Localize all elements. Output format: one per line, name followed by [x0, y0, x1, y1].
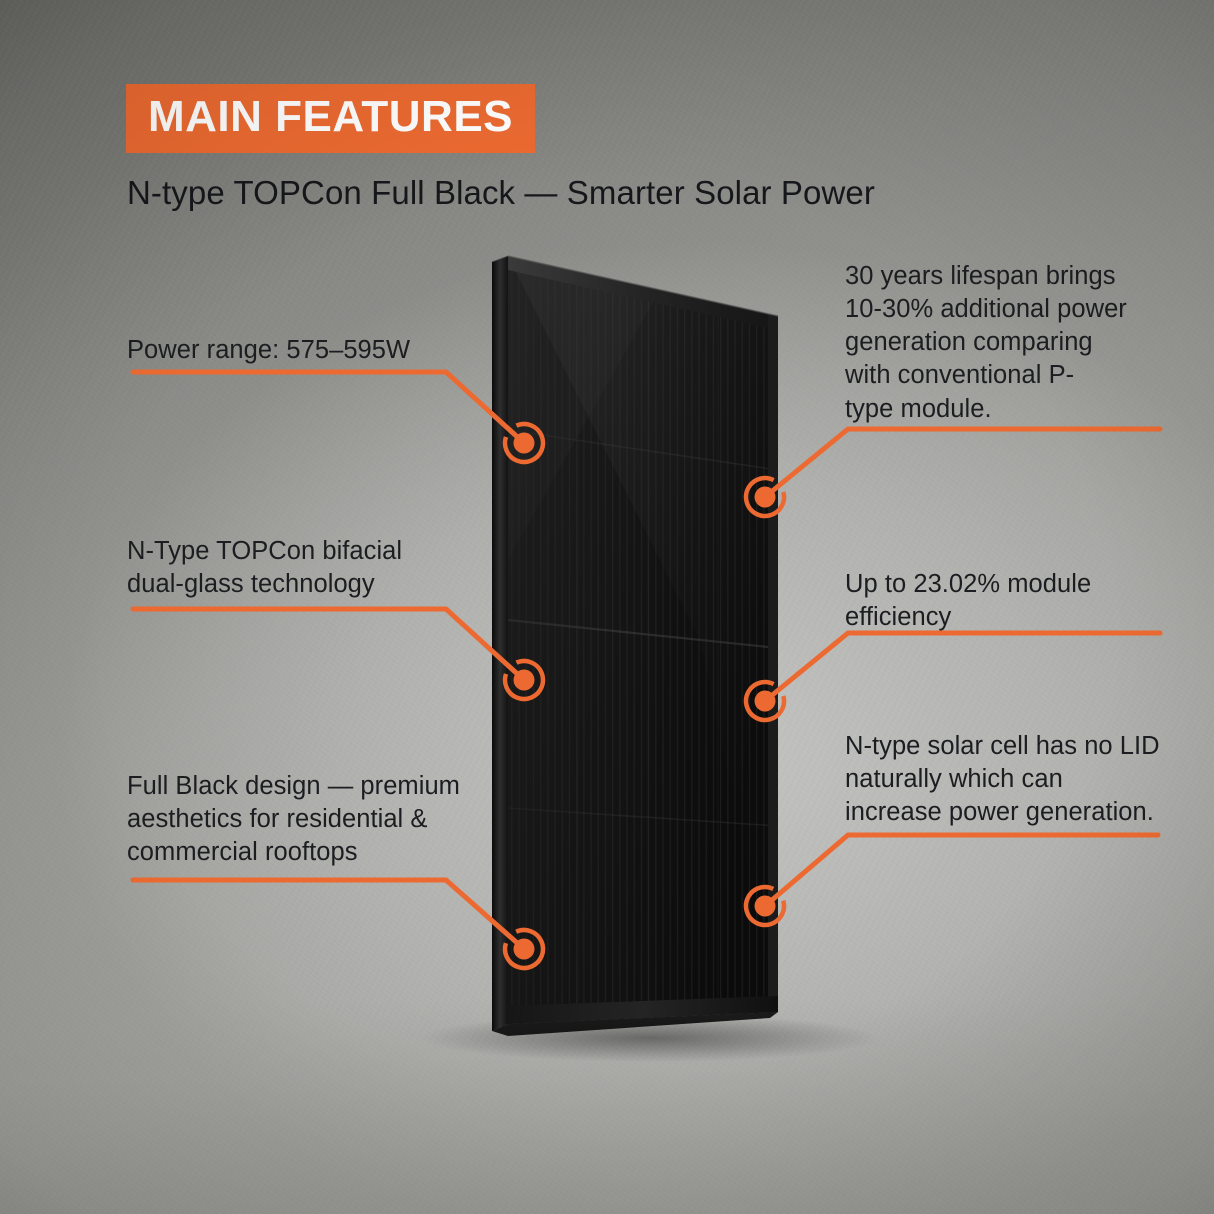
callout-text-power-range: Power range: 575–595W — [127, 334, 527, 367]
callout-line: with conventional P- — [845, 359, 1185, 392]
callout-line: 30 years lifespan brings — [845, 260, 1185, 293]
callout-line: Power range: 575–595W — [127, 334, 527, 367]
main-features-label: MAIN FEATURES — [148, 95, 513, 139]
callout-text-lifespan-extra-generation: 30 years lifespan brings10-30% additiona… — [845, 260, 1185, 426]
callout-line: generation comparing — [845, 326, 1185, 359]
callout-line: type module. — [845, 393, 1185, 426]
callout-line: Up to 23.02% module — [845, 568, 1185, 601]
panel-left-edge — [492, 256, 508, 1031]
callout-line: naturally which can — [845, 763, 1190, 796]
callout-line: N-Type TOPCon bifacial — [127, 535, 527, 568]
callout-line: commercial rooftops — [127, 836, 537, 869]
callout-line: efficiency — [845, 601, 1185, 634]
panel-right-frame — [768, 314, 778, 1012]
callout-text-module-efficiency: Up to 23.02% moduleefficiency — [845, 568, 1185, 634]
callout-line: 10-30% additional power — [845, 293, 1185, 326]
callout-text-no-lid: N-type solar cell has no LIDnaturally wh… — [845, 730, 1190, 829]
infographic-canvas: MAIN FEATURES N-type TOPCon Full Black —… — [0, 0, 1214, 1214]
main-features-chip: MAIN FEATURES — [126, 84, 535, 153]
callout-line: increase power generation. — [845, 796, 1190, 829]
callout-text-bifacial-dual-glass: N-Type TOPCon bifacialdual-glass technol… — [127, 535, 527, 601]
callout-line: aesthetics for residential & — [127, 803, 537, 836]
panel-face-shading — [500, 250, 620, 1040]
callout-line: dual-glass technology — [127, 568, 527, 601]
callout-text-full-black-design: Full Black design — premiumaesthetics fo… — [127, 770, 537, 869]
page-subtitle: N-type TOPCon Full Black — Smarter Solar… — [127, 174, 875, 212]
callout-line: N-type solar cell has no LID — [845, 730, 1190, 763]
callout-line: Full Black design — premium — [127, 770, 537, 803]
